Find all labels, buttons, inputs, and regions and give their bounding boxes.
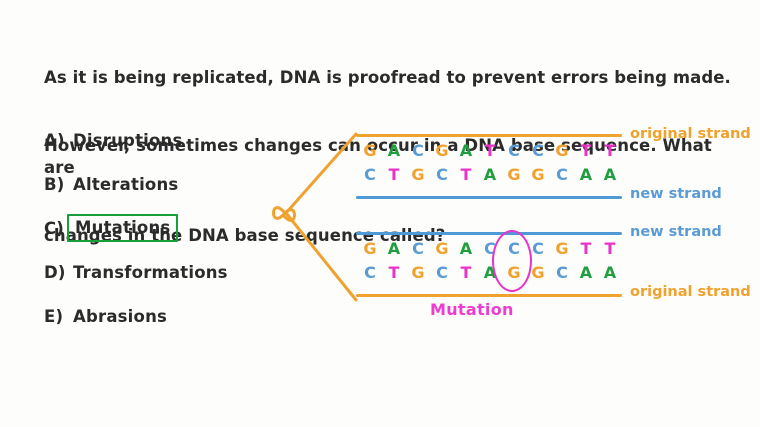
mutation-label: Mutation bbox=[430, 300, 514, 319]
base-G: G bbox=[430, 141, 454, 160]
strand-backbone-top bbox=[356, 232, 622, 235]
base-T: T bbox=[454, 165, 478, 184]
option-label: Mutations bbox=[67, 214, 178, 242]
strand-label-original: original strand bbox=[630, 284, 751, 300]
base-G: G bbox=[406, 263, 430, 282]
base-C: C bbox=[430, 165, 454, 184]
base-G: G bbox=[358, 239, 382, 258]
base-G: G bbox=[358, 141, 382, 160]
base-G: G bbox=[430, 239, 454, 258]
base-sequence-lower_sequence: CTGCTAGGCAA bbox=[358, 165, 624, 184]
strand-label-new: new strand bbox=[630, 224, 722, 240]
base-C: C bbox=[358, 263, 382, 282]
base-T: T bbox=[382, 263, 406, 282]
base-sequence-upper_sequence: GACGACCCGTT bbox=[358, 239, 624, 258]
base-G: G bbox=[406, 165, 430, 184]
strand-label-new: new strand bbox=[630, 186, 722, 202]
dna-replication-diagram: GACGATCCGTTCTGCTAGGCAAoriginal strandnew… bbox=[248, 118, 760, 343]
base-T: T bbox=[598, 141, 622, 160]
option-label: Disruptions bbox=[70, 130, 186, 151]
base-T: T bbox=[574, 239, 598, 258]
base-A: A bbox=[598, 263, 622, 282]
fork-branch-lower bbox=[286, 213, 356, 300]
base-G: G bbox=[550, 141, 574, 160]
option-label: Alterations bbox=[70, 174, 181, 195]
base-sequence-lower_sequence: CTGCTAGGCAA bbox=[358, 263, 624, 282]
base-C: C bbox=[430, 263, 454, 282]
strand-backbone-bottom bbox=[356, 196, 622, 199]
base-A: A bbox=[574, 165, 598, 184]
strand-backbone-bottom bbox=[356, 294, 622, 297]
base-T: T bbox=[574, 141, 598, 160]
mutation-highlight-circle bbox=[492, 230, 532, 292]
option-label: Abrasions bbox=[70, 306, 170, 327]
base-A: A bbox=[382, 239, 406, 258]
base-C: C bbox=[406, 141, 430, 160]
option-letter: E) bbox=[44, 307, 70, 326]
base-C: C bbox=[550, 165, 574, 184]
base-A: A bbox=[382, 141, 406, 160]
option-letter: D) bbox=[44, 263, 70, 282]
base-T: T bbox=[598, 239, 622, 258]
base-C: C bbox=[358, 165, 382, 184]
option-letter: A) bbox=[44, 131, 70, 150]
base-C: C bbox=[502, 141, 526, 160]
base-A: A bbox=[454, 141, 478, 160]
base-G: G bbox=[526, 165, 550, 184]
base-T: T bbox=[382, 165, 406, 184]
base-G: G bbox=[502, 165, 526, 184]
base-A: A bbox=[598, 165, 622, 184]
base-A: A bbox=[574, 263, 598, 282]
base-A: A bbox=[478, 165, 502, 184]
strand-backbone-top bbox=[356, 134, 622, 137]
base-A: A bbox=[454, 239, 478, 258]
base-C: C bbox=[550, 263, 574, 282]
fork-branch-upper bbox=[286, 134, 356, 213]
base-G: G bbox=[550, 239, 574, 258]
question-line-1: As it is being replicated, DNA is proofr… bbox=[44, 67, 744, 90]
option-letter: B) bbox=[44, 175, 70, 194]
base-T: T bbox=[478, 141, 502, 160]
base-sequence-upper_sequence: GACGATCCGTT bbox=[358, 141, 624, 160]
base-C: C bbox=[406, 239, 430, 258]
base-T: T bbox=[454, 263, 478, 282]
base-C: C bbox=[526, 141, 550, 160]
option-label: Transformations bbox=[70, 262, 231, 283]
strand-label-original: original strand bbox=[630, 126, 751, 142]
worksheet-canvas: As it is being replicated, DNA is proofr… bbox=[0, 0, 760, 427]
